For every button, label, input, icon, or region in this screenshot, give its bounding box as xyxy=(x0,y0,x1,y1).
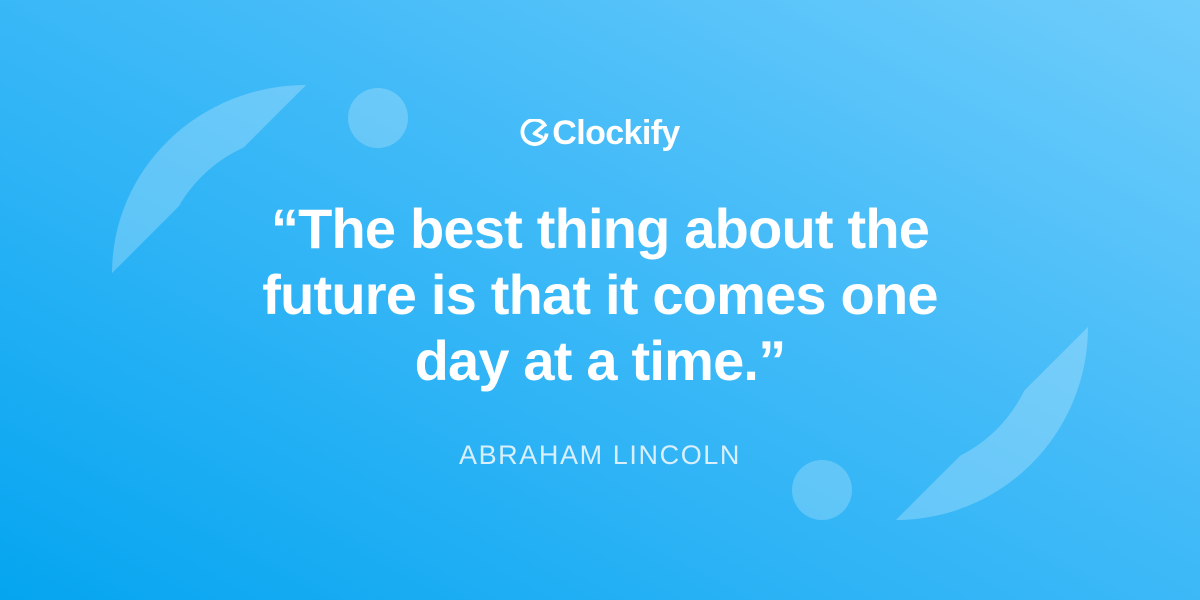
quote-text: “The best thing about the future is that… xyxy=(0,196,1200,394)
quote-line-3: day at a time.” xyxy=(180,328,1020,394)
quote-card: Clockify “The best thing about the futur… xyxy=(0,0,1200,600)
brand-logo: Clockify xyxy=(0,116,1200,150)
quote-author: ABRAHAM LINCOLN xyxy=(0,440,1200,471)
brand-name: Clockify xyxy=(552,116,679,150)
quote-line-2: future is that it comes one xyxy=(180,262,1020,328)
clockify-clock-icon xyxy=(520,119,549,148)
quote-line-1: “The best thing about the xyxy=(180,196,1020,262)
